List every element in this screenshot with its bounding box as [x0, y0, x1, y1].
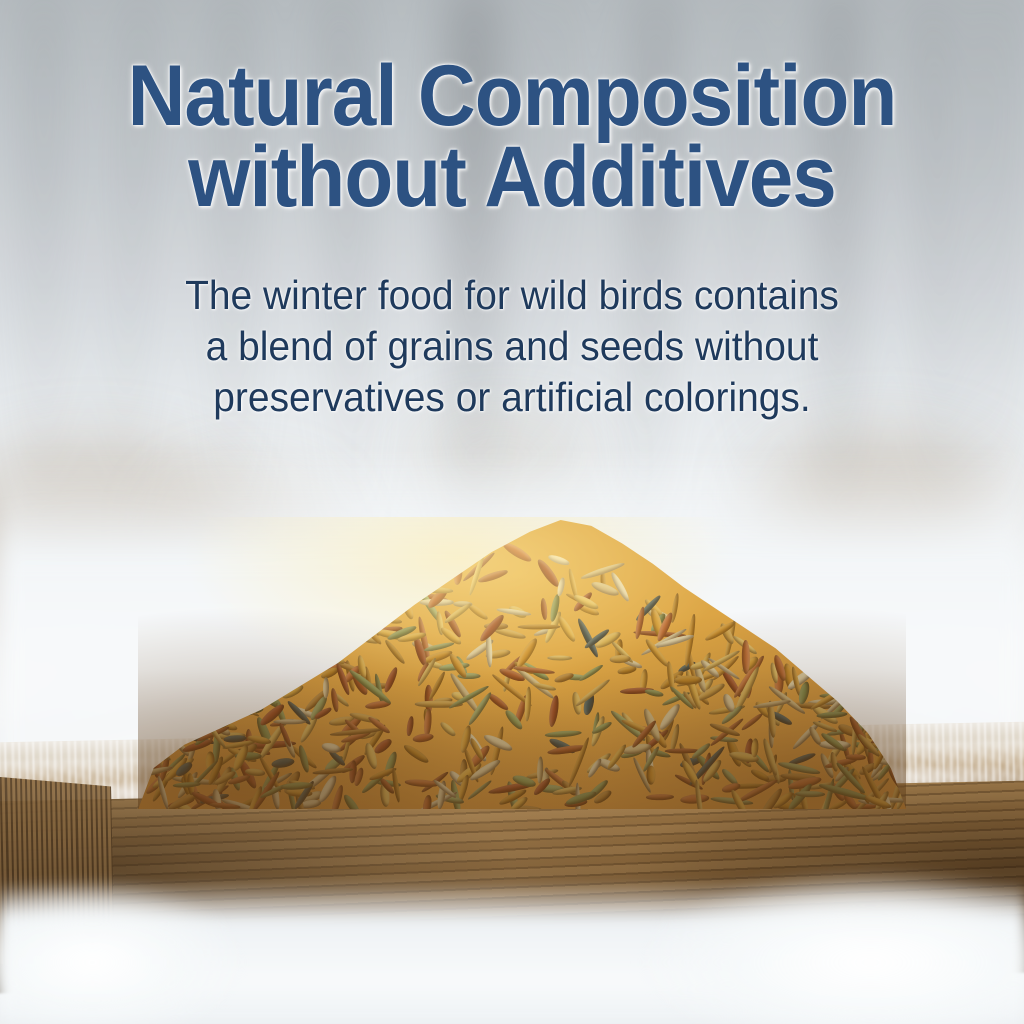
- seed: [312, 766, 353, 774]
- seed: [261, 655, 294, 691]
- seed: [150, 740, 172, 762]
- subheadline-line-3: preservatives or artificial colorings.: [26, 372, 999, 423]
- seed: [301, 649, 330, 672]
- seed: [842, 695, 872, 707]
- seed: [317, 630, 331, 657]
- snow-corner-left: [0, 881, 246, 1024]
- seed: [327, 630, 344, 652]
- seed: [313, 626, 334, 644]
- seed: [382, 667, 399, 694]
- seed: [316, 644, 346, 666]
- seed: [237, 659, 264, 707]
- seed: [402, 742, 431, 765]
- seed: [342, 792, 363, 809]
- seed: [161, 709, 185, 723]
- headline-line-1: Natural Composition: [36, 56, 988, 137]
- seed: [900, 736, 906, 762]
- seed: [138, 743, 155, 758]
- seed: [276, 652, 300, 673]
- seed: [477, 568, 509, 584]
- seed: [883, 712, 893, 735]
- seed: [420, 586, 454, 594]
- seed: [257, 658, 280, 684]
- seed: [439, 720, 457, 738]
- seed-pile: [138, 517, 906, 809]
- seed: [152, 706, 183, 719]
- seed: [326, 611, 335, 645]
- seed: [742, 640, 750, 674]
- seed: [539, 598, 547, 620]
- seed: [548, 553, 571, 566]
- seed: [323, 617, 349, 643]
- seed: [224, 678, 256, 687]
- seed: [647, 765, 656, 784]
- seed: [214, 686, 242, 704]
- seed: [186, 705, 205, 723]
- seed: [501, 539, 534, 564]
- seed: [845, 754, 866, 760]
- seed: [246, 663, 267, 681]
- seed: [323, 677, 329, 698]
- seed: [860, 694, 895, 736]
- seed: [828, 799, 848, 809]
- seed: [617, 665, 637, 675]
- seed: [453, 565, 463, 586]
- seed: [225, 669, 244, 697]
- seed: [609, 654, 630, 663]
- seed: [146, 718, 165, 756]
- seed: [454, 551, 474, 566]
- seed: [300, 646, 342, 665]
- seed: [870, 727, 904, 746]
- seed: [212, 689, 260, 718]
- seed: [680, 794, 710, 805]
- seed: [149, 733, 179, 762]
- seed: [578, 663, 604, 682]
- seed: [273, 643, 311, 666]
- seed: [866, 694, 878, 740]
- seed: [281, 683, 305, 701]
- seed: [872, 718, 894, 733]
- headline: Natural Composition without Additives: [36, 56, 988, 218]
- seed: [567, 736, 591, 788]
- seed: [181, 697, 219, 735]
- seed: [242, 693, 264, 709]
- seed: [202, 687, 218, 716]
- seed: [547, 694, 560, 727]
- seed: [282, 650, 315, 670]
- seed: [145, 746, 169, 764]
- seed: [176, 710, 192, 731]
- seed: [644, 688, 664, 698]
- seed: [376, 615, 402, 626]
- seed: [150, 720, 173, 747]
- seed: [740, 712, 763, 732]
- seed: [162, 722, 189, 741]
- subheadline-line-1: The winter food for wild birds contains: [26, 270, 999, 321]
- seed: [553, 671, 574, 684]
- headline-line-2: without Additives: [36, 137, 988, 218]
- subheadline: The winter food for wild birds contains …: [26, 270, 999, 422]
- seed: [244, 664, 264, 670]
- seed: [547, 656, 572, 661]
- seed: [556, 614, 578, 643]
- seed: [202, 682, 224, 722]
- seed: [674, 675, 702, 684]
- seed: [246, 663, 285, 677]
- seed: [646, 794, 674, 800]
- seed: [138, 736, 158, 761]
- seed: [412, 732, 434, 743]
- seed: [400, 597, 416, 621]
- seed: [383, 638, 407, 665]
- seed: [140, 729, 158, 761]
- seed: [405, 716, 414, 737]
- subheadline-line-2: a blend of grains and seeds without: [26, 321, 999, 372]
- seed: [198, 706, 223, 722]
- snow-corner-right: [635, 870, 1024, 1024]
- seed-pile-mound: [138, 517, 906, 809]
- seed: [336, 633, 359, 645]
- seed: [320, 741, 340, 754]
- seed: [196, 695, 205, 730]
- seed: [544, 730, 581, 739]
- poster-canvas: Natural Composition without Additives Th…: [0, 0, 1024, 1024]
